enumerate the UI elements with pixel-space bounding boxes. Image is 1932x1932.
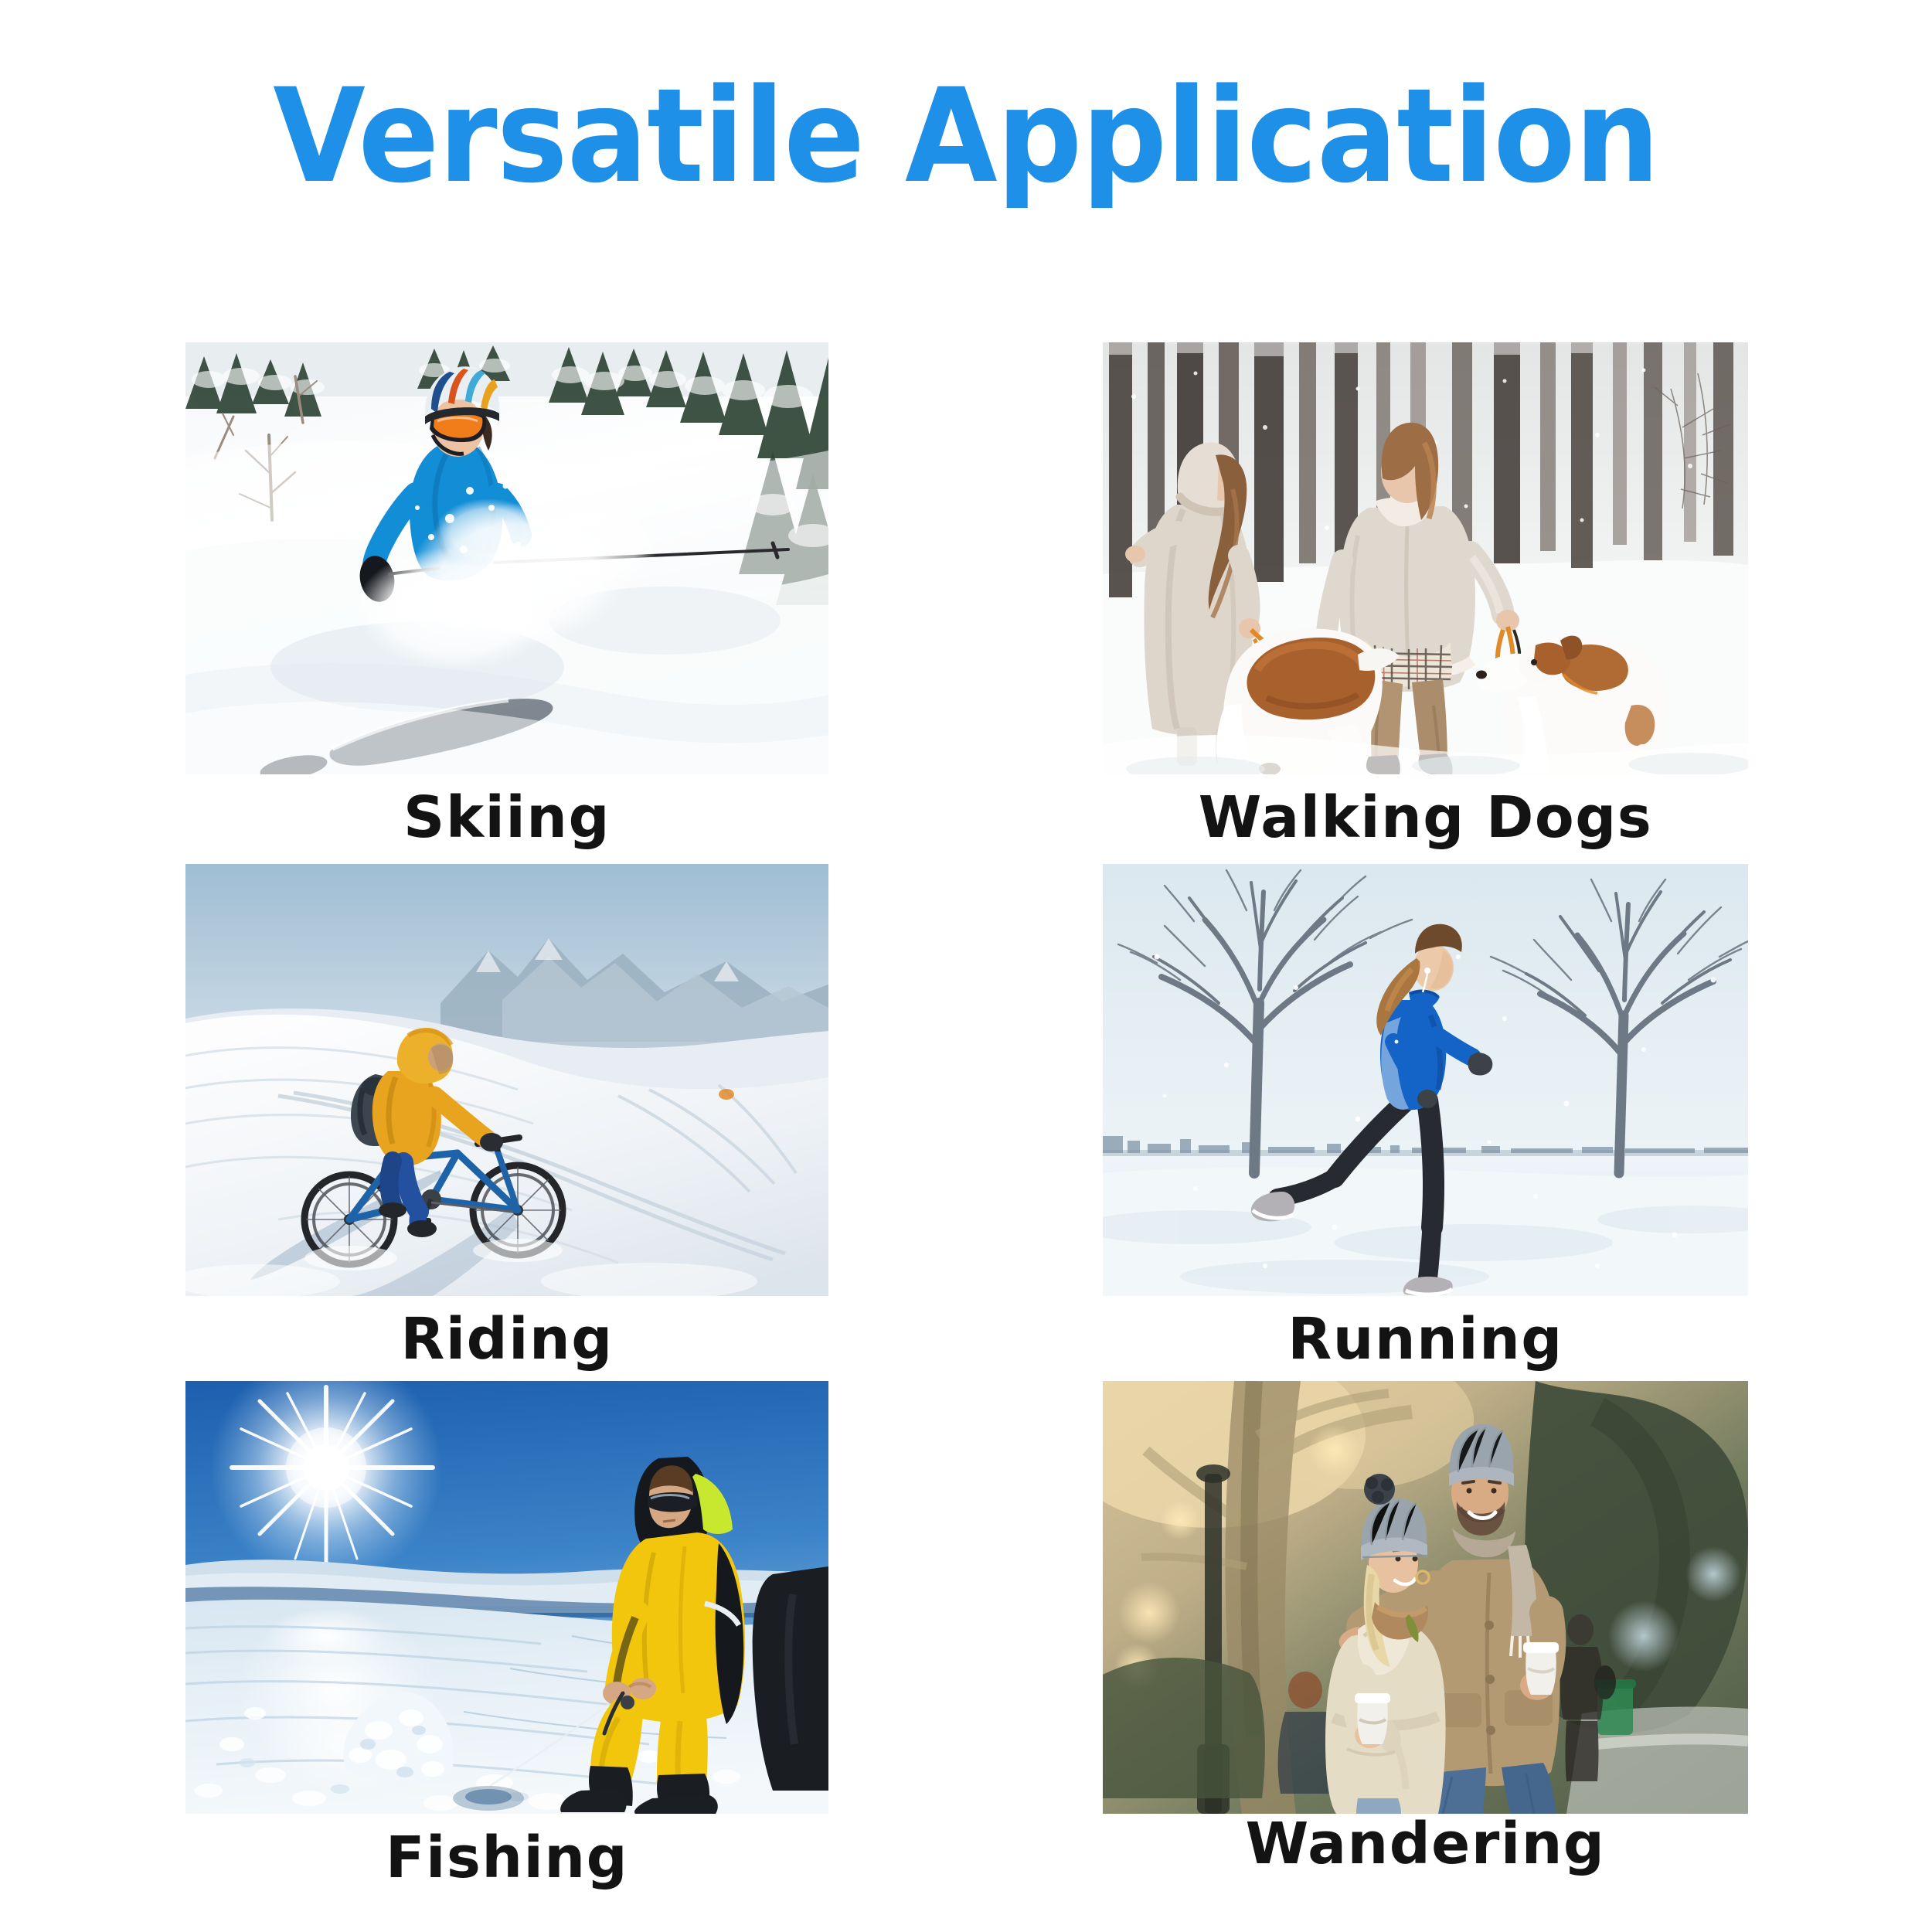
fishing-photo [185, 1381, 828, 1814]
gallery-caption-wandering: Wandering [1103, 1815, 1748, 1872]
riding-photo [185, 864, 828, 1296]
gallery-caption-running: Running [1103, 1311, 1748, 1368]
walking-dogs-photo [1103, 342, 1748, 774]
gallery-caption-walking-dogs: Walking Dogs [1103, 789, 1748, 846]
gallery-caption-fishing: Fishing [185, 1829, 828, 1886]
gallery-caption-skiing: Skiing [185, 789, 828, 846]
wandering-photo [1103, 1381, 1748, 1814]
gallery-item-fishing[interactable]: Fishing [185, 1381, 828, 1886]
skiing-photo [185, 342, 828, 774]
gallery-item-riding[interactable]: Riding [185, 864, 828, 1360]
application-gallery: Skiing [0, 0, 1932, 1932]
running-photo [1103, 864, 1748, 1296]
gallery-item-wandering[interactable]: Wandering [1103, 1381, 1748, 1886]
gallery-item-walking-dogs[interactable]: Walking Dogs [1103, 342, 1748, 838]
gallery-item-running[interactable]: Running [1103, 864, 1748, 1360]
gallery-caption-riding: Riding [185, 1311, 828, 1368]
gallery-item-skiing[interactable]: Skiing [185, 342, 828, 838]
